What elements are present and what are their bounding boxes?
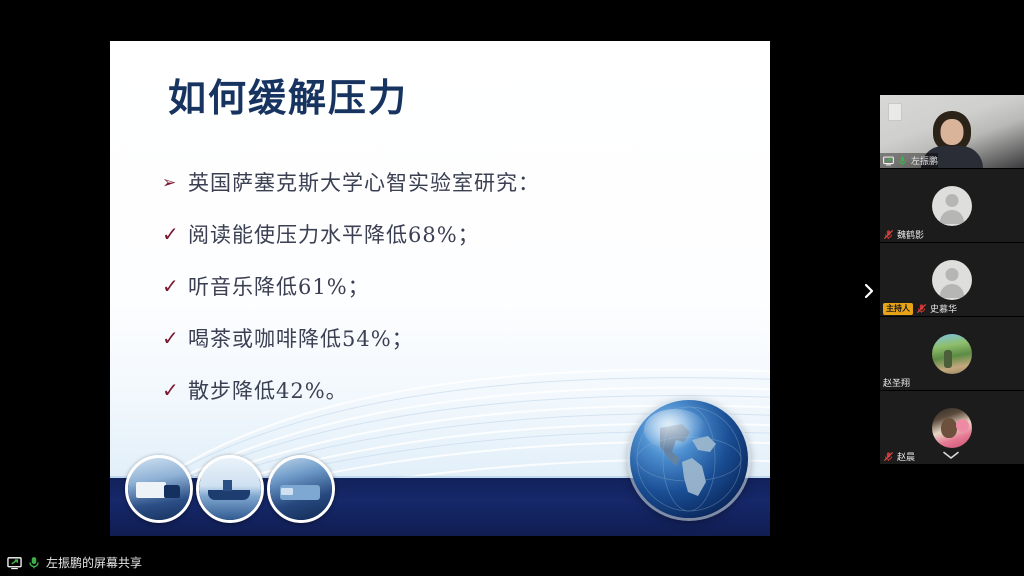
avatar (932, 260, 972, 300)
bullet-text: 阅读能使压力水平降低68%； (188, 221, 480, 249)
bullet-text: 散步降低42%。 (188, 377, 348, 405)
status-bar: 左振鹏的屏幕共享 (0, 548, 1024, 576)
presentation-slide: 如何缓解压力 ➢ 英国萨塞克斯大学心智实验室研究： ✓ 阅读能使压力水平降低68… (110, 41, 770, 536)
shared-screen-stage: 如何缓解压力 ➢ 英国萨塞克斯大学心智实验室研究： ✓ 阅读能使压力水平降低68… (0, 0, 855, 548)
microphone-muted-icon (883, 451, 894, 462)
slide-bullet-list: ➢ 英国萨塞克斯大学心智实验室研究： ✓ 阅读能使压力水平降低68%； ✓ 听音… (162, 169, 722, 429)
participant-name-bar: 赵晨 (880, 449, 915, 464)
background-wall (888, 103, 902, 121)
list-item: ✓ 阅读能使压力水平降低68%； (162, 221, 722, 249)
participant-name-bar: 魏鹤影 (880, 227, 924, 242)
avatar (932, 186, 972, 226)
arrow-bullet-icon: ➢ (162, 169, 188, 197)
participant-tile-3[interactable]: 主持人 史慕华 (880, 243, 1024, 316)
globe-highlight (644, 409, 705, 449)
participant-tile-4[interactable]: 赵圣翔 (880, 317, 1024, 390)
avatar (932, 334, 972, 374)
avatar (932, 408, 972, 448)
collapse-panel-button[interactable] (860, 276, 878, 306)
participant-video-panel[interactable]: 左振鹏 魏鹤影 主持人 (880, 95, 1024, 465)
share-status-text: 左振鹏的屏幕共享 (46, 554, 142, 571)
participant-name: 史慕华 (930, 302, 957, 315)
check-bullet-icon: ✓ (162, 325, 188, 353)
list-item: ✓ 听音乐降低61%； (162, 273, 722, 301)
participant-name: 赵圣翔 (883, 376, 910, 389)
bullet-text: 听音乐降低61%； (188, 273, 370, 301)
check-bullet-icon: ✓ (162, 273, 188, 301)
participant-name-bar: 左振鹏 (880, 153, 938, 168)
slide-title: 如何缓解压力 (168, 67, 408, 122)
microphone-muted-icon (883, 229, 894, 240)
scroll-down-button[interactable] (942, 450, 960, 460)
list-item: ➢ 英国萨塞克斯大学心智实验室研究： (162, 169, 722, 197)
check-bullet-icon: ✓ (162, 377, 188, 405)
person-face (941, 119, 964, 145)
microphone-on-icon (897, 155, 908, 166)
participant-name: 赵晨 (897, 450, 915, 463)
participant-name-bar: 主持人 史慕华 (880, 301, 957, 316)
participant-name: 左振鹏 (911, 154, 938, 167)
participant-tile-5[interactable]: 赵晨 (880, 391, 1024, 464)
check-bullet-icon: ✓ (162, 221, 188, 249)
microphone-muted-icon (916, 303, 927, 314)
microphone-icon[interactable] (27, 555, 41, 570)
globe-graphic (630, 400, 748, 518)
participant-name: 魏鹤影 (897, 228, 924, 241)
truck-photo-circle (125, 455, 193, 523)
bullet-text: 喝茶或咖啡降低54%； (188, 325, 414, 353)
chevron-right-icon (864, 283, 875, 299)
status-badge: 主持人 (883, 303, 913, 315)
ship-photo-circle (196, 455, 264, 523)
participant-name-bar: 赵圣翔 (880, 375, 910, 390)
bullet-text: 英国萨塞克斯大学心智实验室研究： (188, 169, 540, 197)
screen-share-icon (883, 155, 894, 166)
zoom-meeting-window: 如何缓解压力 ➢ 英国萨塞克斯大学心智实验室研究： ✓ 阅读能使压力水平降低68… (0, 0, 1024, 576)
participant-tile-2[interactable]: 魏鹤影 (880, 169, 1024, 242)
participant-tile-1[interactable]: 左振鹏 (880, 95, 1024, 168)
train-photo-circle (267, 455, 335, 523)
screen-share-icon[interactable] (7, 555, 22, 570)
list-item: ✓ 喝茶或咖啡降低54%； (162, 325, 722, 353)
